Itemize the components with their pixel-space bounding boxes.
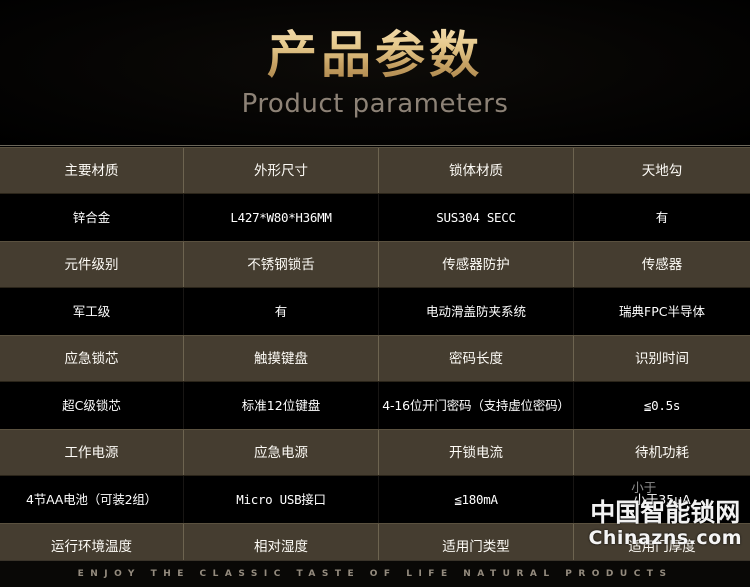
table-cell: 密码长度 (378, 336, 573, 381)
specification-table: 主要材质 外形尺寸 锁体材质 天地勾 锌合金 L427*W80*H36MM SU… (0, 147, 750, 587)
table-row: 4节AA电池（可装2组） Micro USB接口 ≦180mA 小于 小于35u… (0, 476, 750, 523)
table-cell: 有 (573, 194, 750, 241)
table-cell: 元件级别 (0, 242, 183, 287)
table-cell: ≦180mA (378, 476, 573, 523)
table-cell: 外形尺寸 (183, 148, 378, 193)
table-cell: 锌合金 (0, 194, 183, 241)
table-cell: 开锁电流 (378, 430, 573, 475)
table-cell-standby-power: 小于 小于35uA (573, 476, 750, 523)
table-cell: 主要材质 (0, 148, 183, 193)
table-cell: SUS304 SECC (378, 194, 573, 241)
table-cell: 超C级锁芯 (0, 382, 183, 429)
table-cell: 4-16位开门密码（支持虚位密码） (378, 382, 573, 429)
page-title-en: Product parameters (0, 88, 750, 120)
table-row: 元件级别 不锈钢锁舌 传感器防护 传感器 (0, 241, 750, 288)
table-cell: 不锈钢锁舌 (183, 242, 378, 287)
table-cell: 4节AA电池（可装2组） (0, 476, 183, 523)
table-cell: 天地勾 (573, 148, 750, 193)
table-row: 锌合金 L427*W80*H36MM SUS304 SECC 有 (0, 194, 750, 241)
table-row: 工作电源 应急电源 开锁电流 待机功耗 (0, 429, 750, 476)
product-parameters-page: 产品参数 Product parameters 主要材质 外形尺寸 锁体材质 天… (0, 0, 750, 587)
table-cell: L427*W80*H36MM (183, 194, 378, 241)
table-cell: 标准12位键盘 (183, 382, 378, 429)
table-row: 超C级锁芯 标准12位键盘 4-16位开门密码（支持虚位密码） ≦0.5s (0, 382, 750, 429)
table-cell: 触摸键盘 (183, 336, 378, 381)
table-cell: 锁体材质 (378, 148, 573, 193)
table-cell: 待机功耗 (573, 430, 750, 475)
table-cell: ≦0.5s (573, 382, 750, 429)
table-cell: 瑞典FPC半导体 (573, 288, 750, 335)
header-divider (0, 145, 750, 146)
table-cell: 识别时间 (573, 336, 750, 381)
page-header: 产品参数 Product parameters (0, 0, 750, 145)
table-cell: 应急电源 (183, 430, 378, 475)
table-cell: 应急锁芯 (0, 336, 183, 381)
table-cell: 传感器 (573, 242, 750, 287)
table-row: 应急锁芯 触摸键盘 密码长度 识别时间 (0, 335, 750, 382)
page-footer: ENJOY THE CLASSIC TASTE OF LIFE NATURAL … (0, 560, 750, 587)
table-cell: 传感器防护 (378, 242, 573, 287)
table-row: 军工级 有 电动滑盖防夹系统 瑞典FPC半导体 (0, 288, 750, 335)
table-cell: 有 (183, 288, 378, 335)
table-row: 主要材质 外形尺寸 锁体材质 天地勾 (0, 147, 750, 194)
footer-tagline: ENJOY THE CLASSIC TASTE OF LIFE NATURAL … (78, 569, 673, 579)
table-cell: 电动滑盖防夹系统 (378, 288, 573, 335)
page-title-cn: 产品参数 (0, 26, 750, 84)
standby-power-value: 小于35uA (633, 492, 690, 507)
table-cell: 军工级 (0, 288, 183, 335)
table-cell: Micro USB接口 (183, 476, 378, 523)
table-cell: 工作电源 (0, 430, 183, 475)
